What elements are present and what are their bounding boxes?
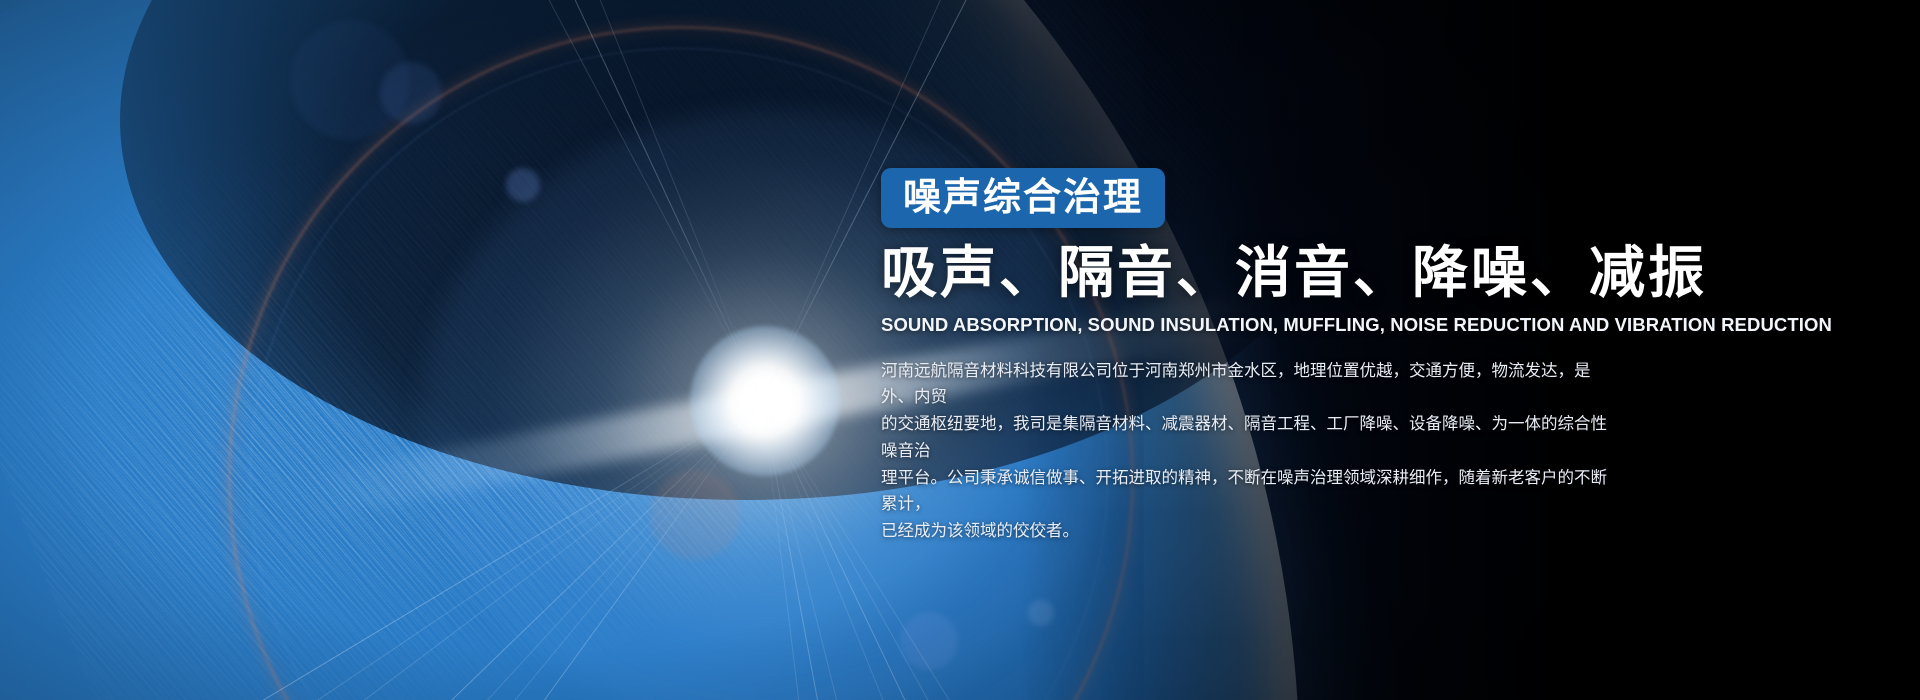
body-copy-line: 的交通枢纽要地，我司是集隔音材料、减震器材、隔音工程、工厂降噪、设备降噪、为一体…: [881, 411, 1623, 464]
body-copy-line: 理平台。公司秉承诚信做事、开拓进取的精神，不断在噪声治理领域深耕细作，随着新老客…: [881, 465, 1623, 518]
lens-flare-ghost: [290, 20, 410, 140]
lens-flare-ghost: [650, 470, 740, 560]
body-copy-line: 河南远航隔音材料科技有限公司位于河南郑州市金水区，地理位置优越，交通方便，物流发…: [881, 358, 1623, 411]
category-badge: 噪声综合治理: [881, 168, 1165, 228]
lens-flare-ghost: [900, 612, 958, 670]
lens-flare-ghost: [506, 168, 540, 202]
hero-subheadline: SOUND ABSORPTION, SOUND INSULATION, MUFF…: [881, 314, 1641, 336]
hero-headline: 吸声、隔音、消音、降噪、减振: [881, 242, 1641, 306]
hero-content: 噪声综合治理 吸声、隔音、消音、降噪、减振 SOUND ABSORPTION, …: [881, 168, 1641, 545]
body-copy-line: 已经成为该领域的佼佼者。: [881, 518, 1623, 545]
hero-body-copy: 河南远航隔音材料科技有限公司位于河南郑州市金水区，地理位置优越，交通方便，物流发…: [881, 358, 1623, 545]
hero-banner: 噪声综合治理 吸声、隔音、消音、降噪、减振 SOUND ABSORPTION, …: [0, 0, 1920, 700]
